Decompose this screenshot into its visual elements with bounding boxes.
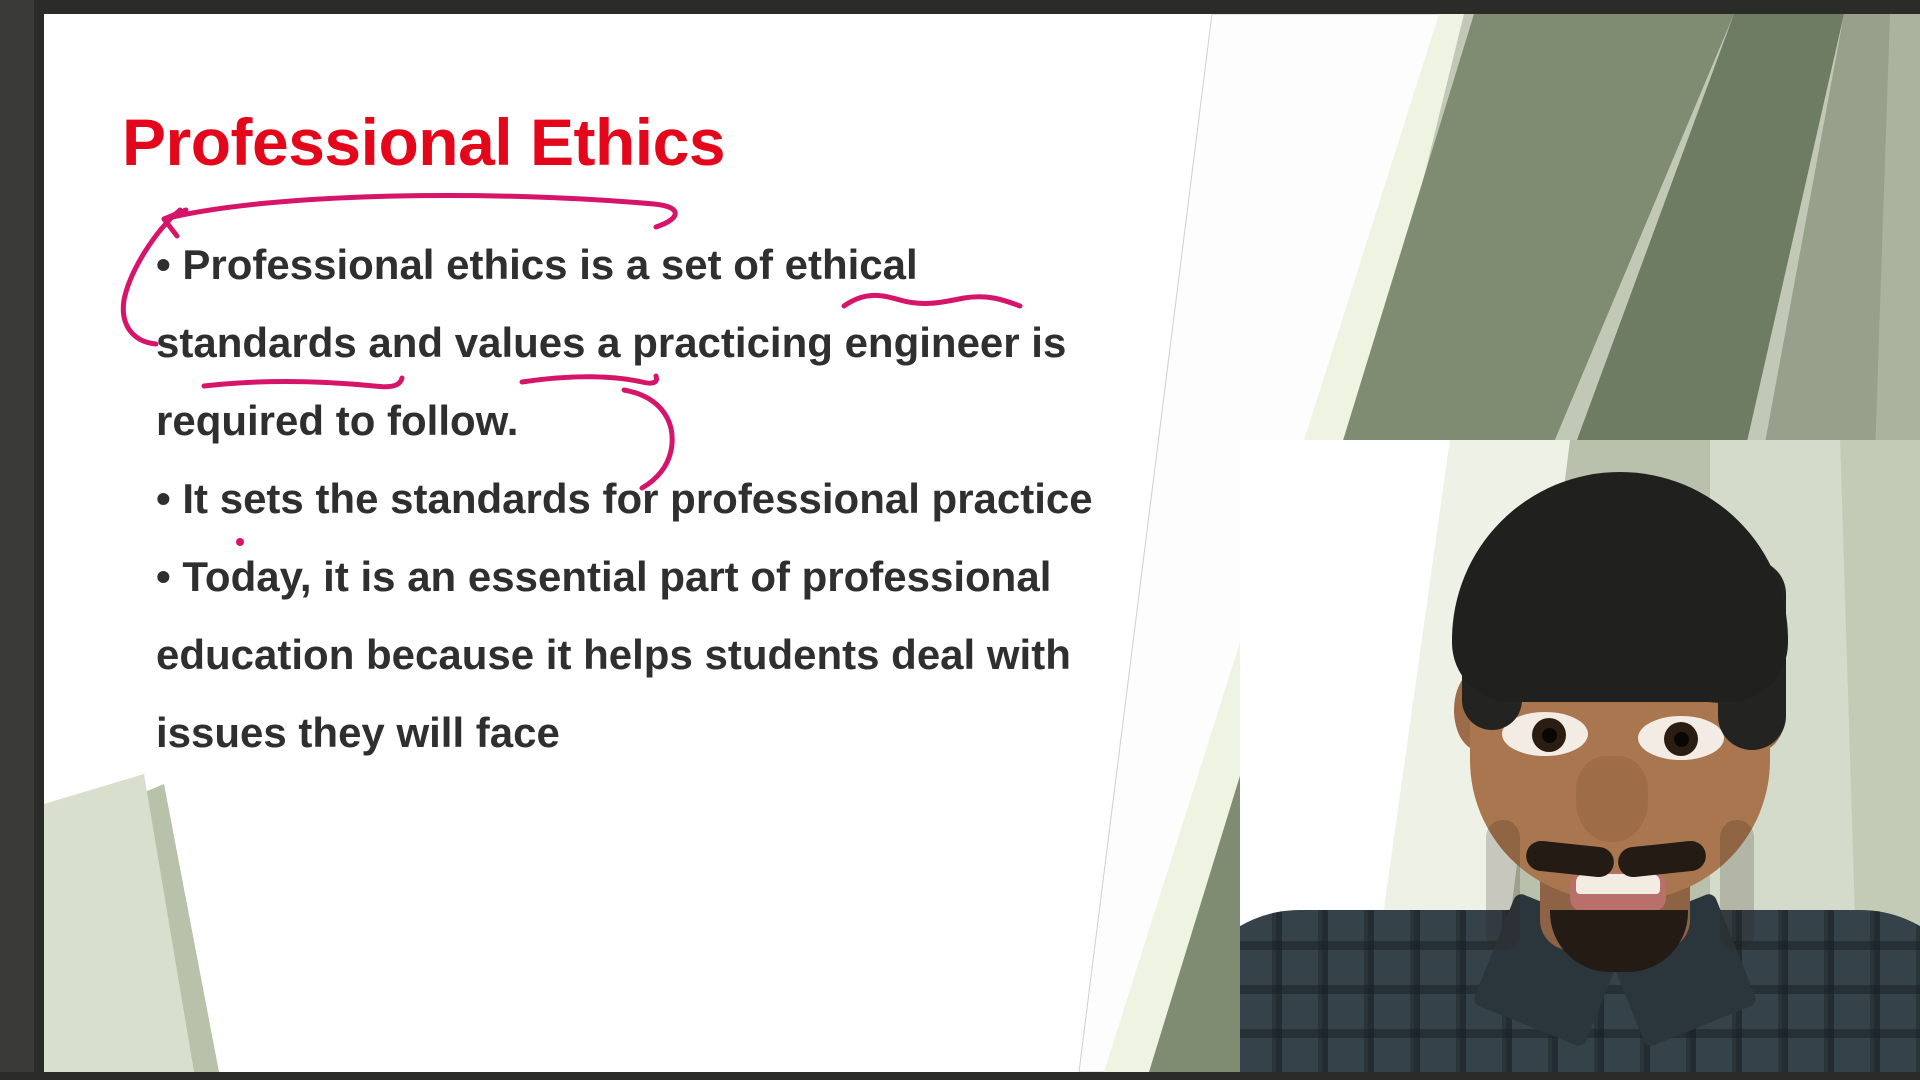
bullet-line-4-text: It sets the standards for professional p… xyxy=(182,475,1092,522)
bullet-line-5-text: Today, it is an essential part of profes… xyxy=(182,553,1051,600)
bullet-line-6-text: education because it helps students deal… xyxy=(156,631,1071,678)
presenter-pupil-left xyxy=(1542,728,1557,743)
presenter-hair xyxy=(1452,472,1788,702)
bullet-glyph: • xyxy=(156,553,171,600)
presenter-webcam-overlay xyxy=(1240,440,1920,1080)
presenter-pupil-right xyxy=(1674,732,1689,747)
bullet-line-1-text: Professional ethics is a set of ethical xyxy=(182,241,917,288)
presenter-figure xyxy=(1240,440,1920,1080)
player-left-inner-border xyxy=(34,0,44,1080)
slide-body: • Professional ethics is a set of ethica… xyxy=(156,226,1316,772)
bullet-line-7-text: issues they will face xyxy=(156,709,560,756)
bullet-line-1: • Professional ethics is a set of ethica… xyxy=(156,226,1316,304)
presenter-teeth xyxy=(1576,874,1660,894)
bullet-line-2-text: standards and values a practicing engine… xyxy=(156,319,1066,366)
bullet-line-3-text: required to follow. xyxy=(156,397,518,444)
player-bottom-border xyxy=(0,1072,1920,1080)
bullet-line-2: standards and values a practicing engine… xyxy=(156,304,1316,382)
bullet-glyph: • xyxy=(156,241,171,288)
player-top-border xyxy=(0,0,1920,14)
bullet-line-5: • Today, it is an essential part of prof… xyxy=(156,538,1316,616)
bullet-line-4: • It sets the standards for professional… xyxy=(156,460,1316,538)
bullet-glyph: • xyxy=(156,475,171,522)
slide-title: Professional Ethics xyxy=(122,104,725,180)
presenter-beard-left xyxy=(1486,820,1520,950)
bullet-line-7: issues they will face xyxy=(156,694,1316,772)
player-left-border xyxy=(0,0,34,1080)
presenter-nose xyxy=(1576,756,1648,842)
presenter-beard-right xyxy=(1720,820,1754,950)
bullet-line-3: required to follow. xyxy=(156,382,1316,460)
video-player-stage: Professional Ethics • Professional ethic… xyxy=(0,0,1920,1080)
bullet-line-6: education because it helps students deal… xyxy=(156,616,1316,694)
